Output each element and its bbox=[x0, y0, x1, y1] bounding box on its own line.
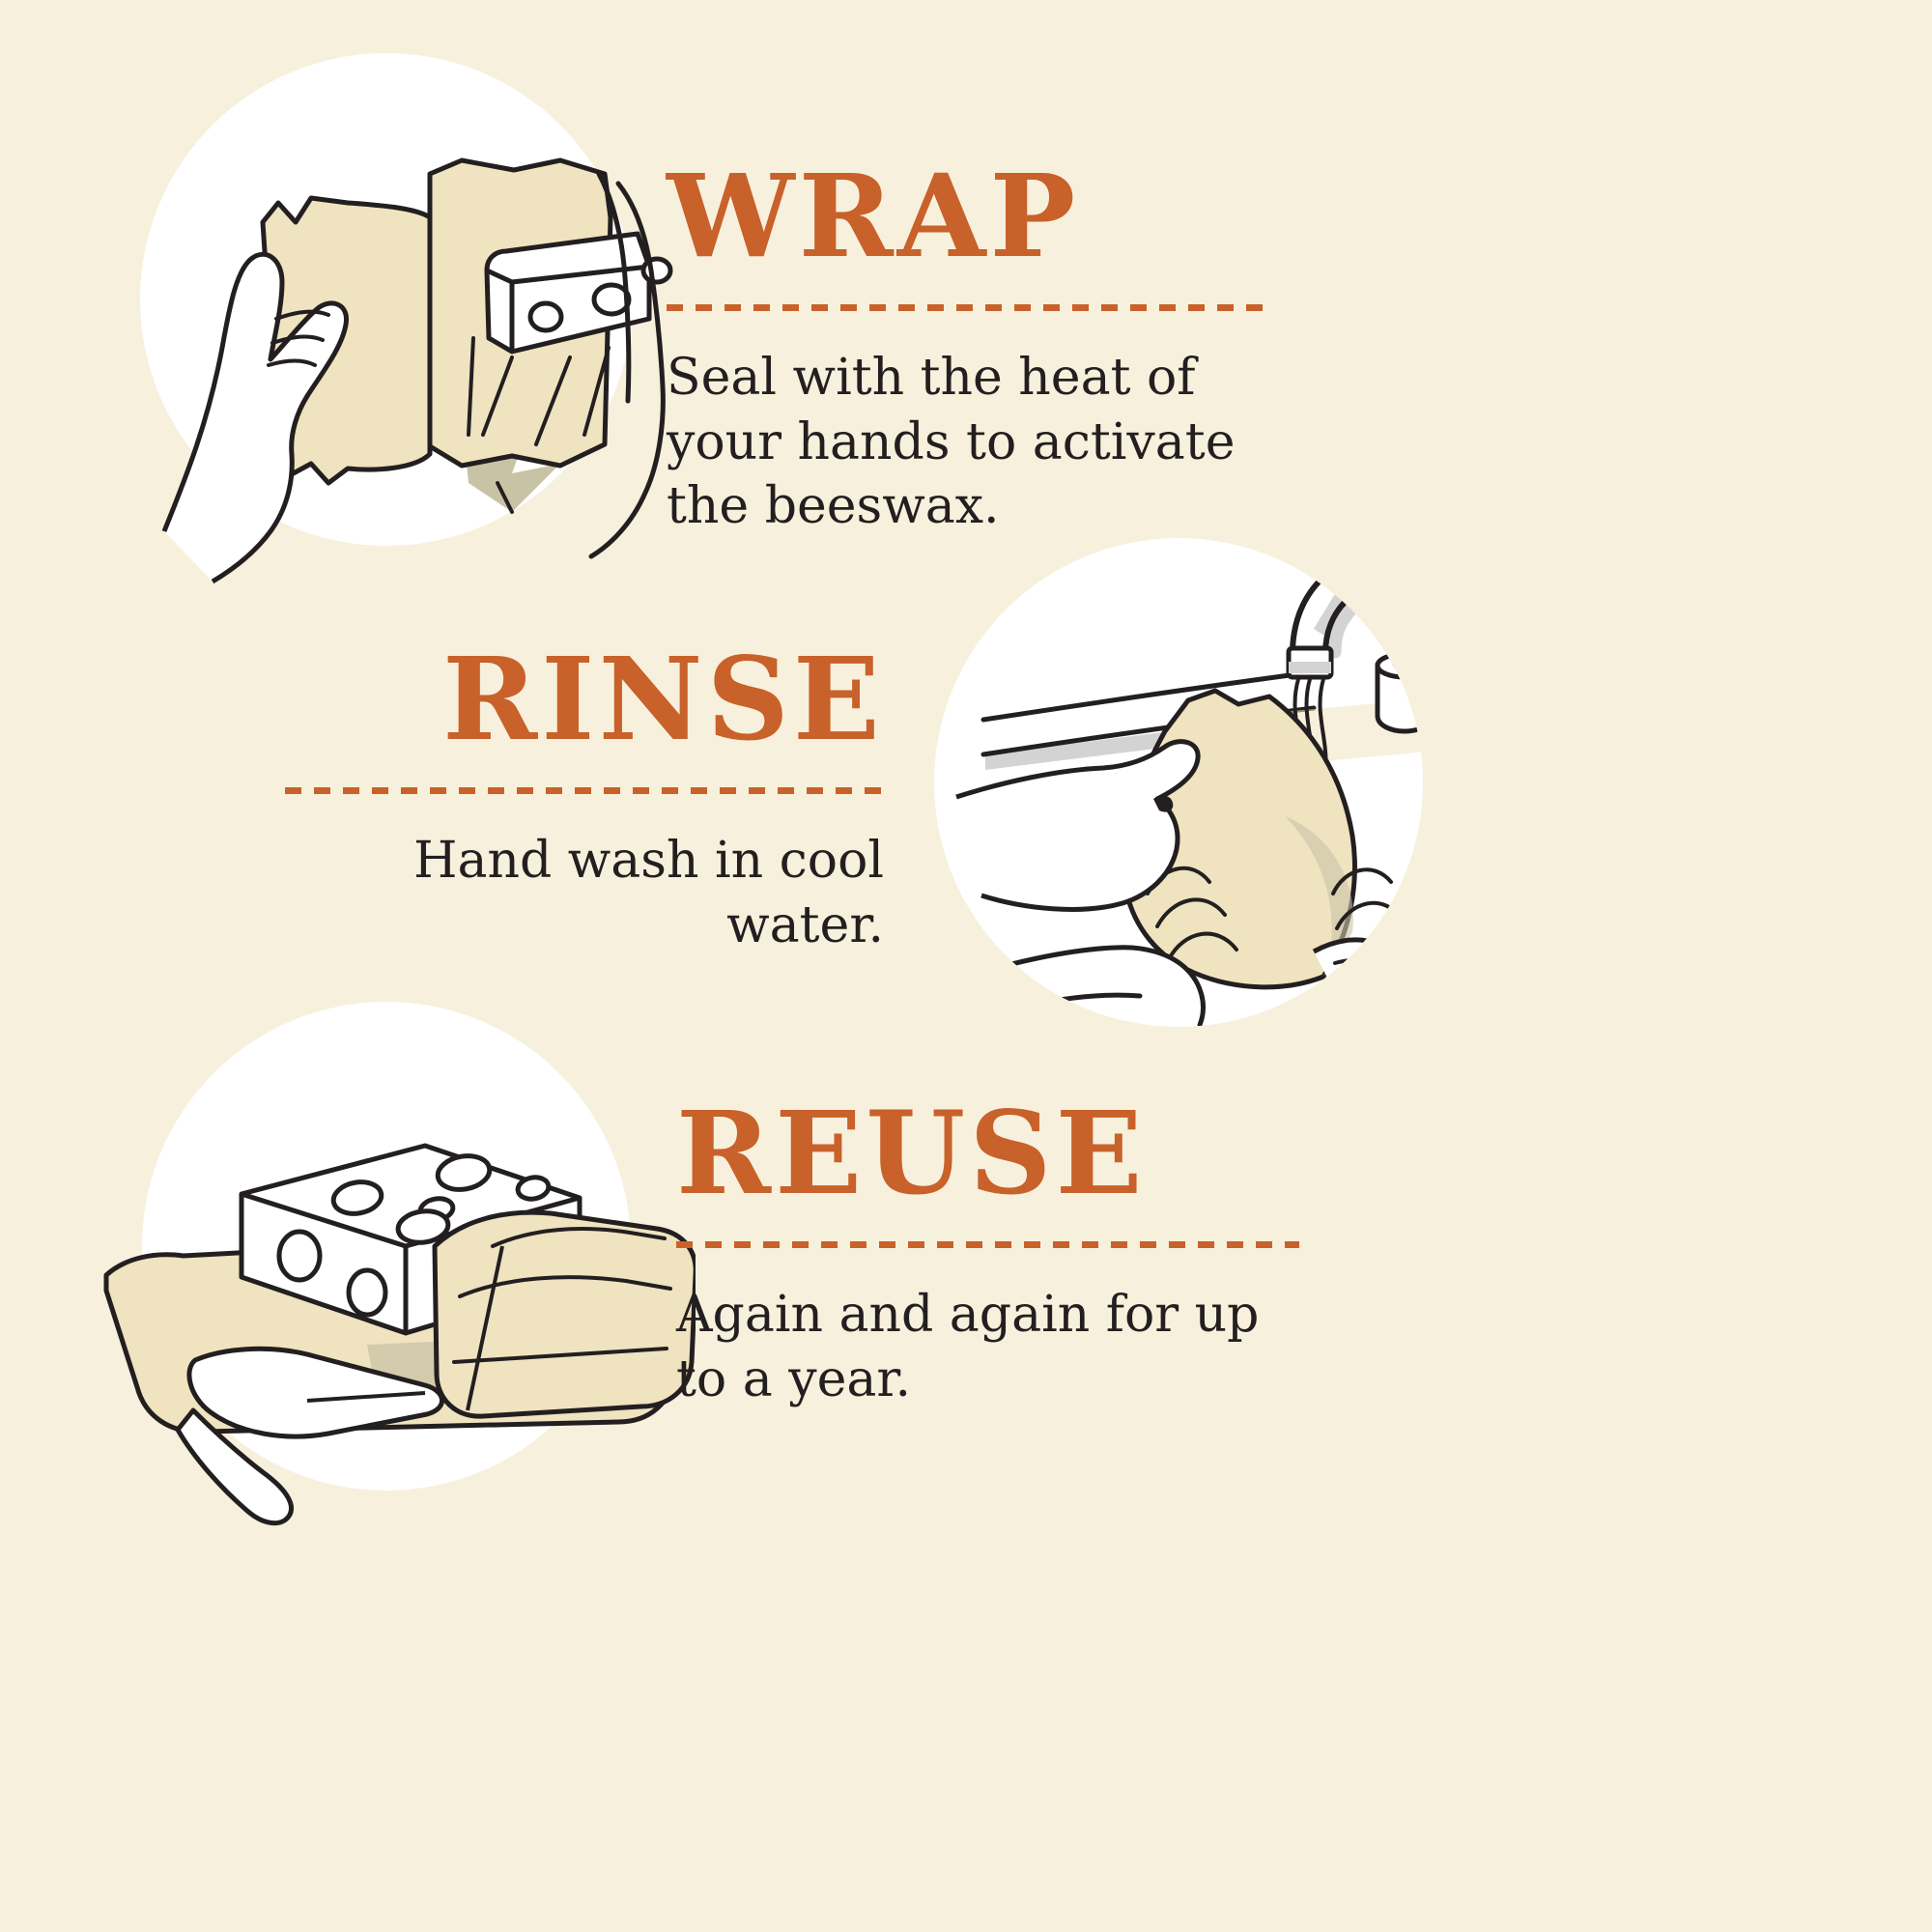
step-wrap-body: Seal with the heat of your hands to acti… bbox=[667, 346, 1285, 539]
step-wrap-heading: WRAP bbox=[667, 159, 1285, 273]
step-reuse-heading: REUSE bbox=[676, 1096, 1304, 1210]
infographic-canvas: WRAP Seal with the heat of your hands to… bbox=[0, 0, 1932, 1932]
cheese-knife-on-wrap-illustration bbox=[77, 956, 696, 1546]
step-wrap-divider bbox=[667, 304, 1265, 311]
step-reuse-text-block: REUSE Again and again for up to a year. bbox=[676, 1096, 1304, 1411]
step-wrap-text-block: WRAP Seal with the heat of your hands to… bbox=[667, 159, 1285, 539]
hands-wrapping-cheese-illustration bbox=[58, 29, 715, 599]
step-rinse-body: Hand wash in cool water. bbox=[270, 829, 884, 957]
hands-rinsing-wrap-in-sink-illustration bbox=[898, 526, 1459, 1067]
step-rinse-heading: RINSE bbox=[270, 642, 884, 756]
step-rinse-divider bbox=[285, 787, 884, 794]
step-rinse-text-block: RINSE Hand wash in cool water. bbox=[270, 642, 884, 957]
step-reuse-body: Again and again for up to a year. bbox=[676, 1283, 1304, 1411]
step-reuse-divider bbox=[676, 1241, 1299, 1248]
